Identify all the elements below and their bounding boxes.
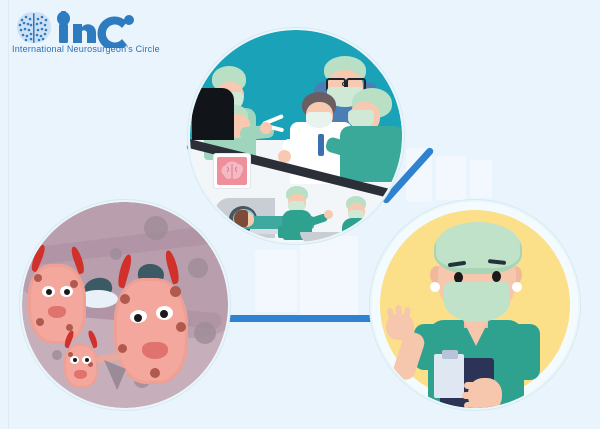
equipment-cart	[300, 232, 352, 242]
neurosurgeon-scene	[372, 202, 578, 408]
surgical-monitor	[192, 88, 234, 140]
infographic-canvas: International Neurosurgeon's Circle	[0, 0, 600, 429]
scrubs-sleeve-right	[506, 324, 540, 380]
brain-scan-frame	[214, 154, 250, 188]
watermark-line	[258, 272, 294, 274]
hand-finger	[462, 392, 486, 399]
watermark-line	[258, 292, 294, 294]
floor-marker	[278, 226, 284, 238]
tissue-spot	[52, 350, 62, 360]
node-neurosurgeon-portrait[interactable]	[372, 202, 578, 408]
brand-logo-mark	[12, 8, 162, 48]
watermark-line	[258, 262, 294, 264]
node-tumor-cells[interactable]	[22, 202, 228, 408]
surgical-mask	[444, 282, 510, 322]
tissue-spot	[144, 216, 168, 240]
clipboard-paper	[434, 354, 464, 398]
watermark-shape	[255, 250, 297, 312]
clipboard-clip	[442, 350, 458, 359]
eye-right	[492, 271, 501, 282]
hand-finger	[464, 382, 486, 389]
brain-logo-icon	[12, 8, 144, 48]
watermark-shape	[436, 156, 466, 200]
earring-right	[512, 282, 522, 292]
tissue-spot	[188, 258, 208, 278]
watermark-line	[258, 282, 294, 284]
brain-scan-image	[217, 157, 247, 185]
tumor-scene	[22, 202, 228, 408]
hand-finger	[464, 402, 486, 408]
patient-hair	[234, 210, 248, 227]
tissue-spot	[194, 322, 216, 344]
brand-logo: International Neurosurgeon's Circle	[12, 8, 162, 48]
tissue-spot	[110, 248, 122, 260]
left-margin-rule	[8, 0, 9, 429]
connector-tumor-to-nurse	[216, 315, 386, 322]
brand-tagline: International Neurosurgeon's Circle	[12, 44, 160, 54]
floor-marker	[288, 226, 294, 238]
surgical-cap	[436, 222, 520, 268]
scrubs-v-neck	[463, 320, 489, 346]
watermark-shape	[470, 160, 492, 198]
earring-left	[430, 282, 440, 292]
watermark-shape	[300, 236, 358, 318]
brain-icon	[217, 157, 247, 185]
